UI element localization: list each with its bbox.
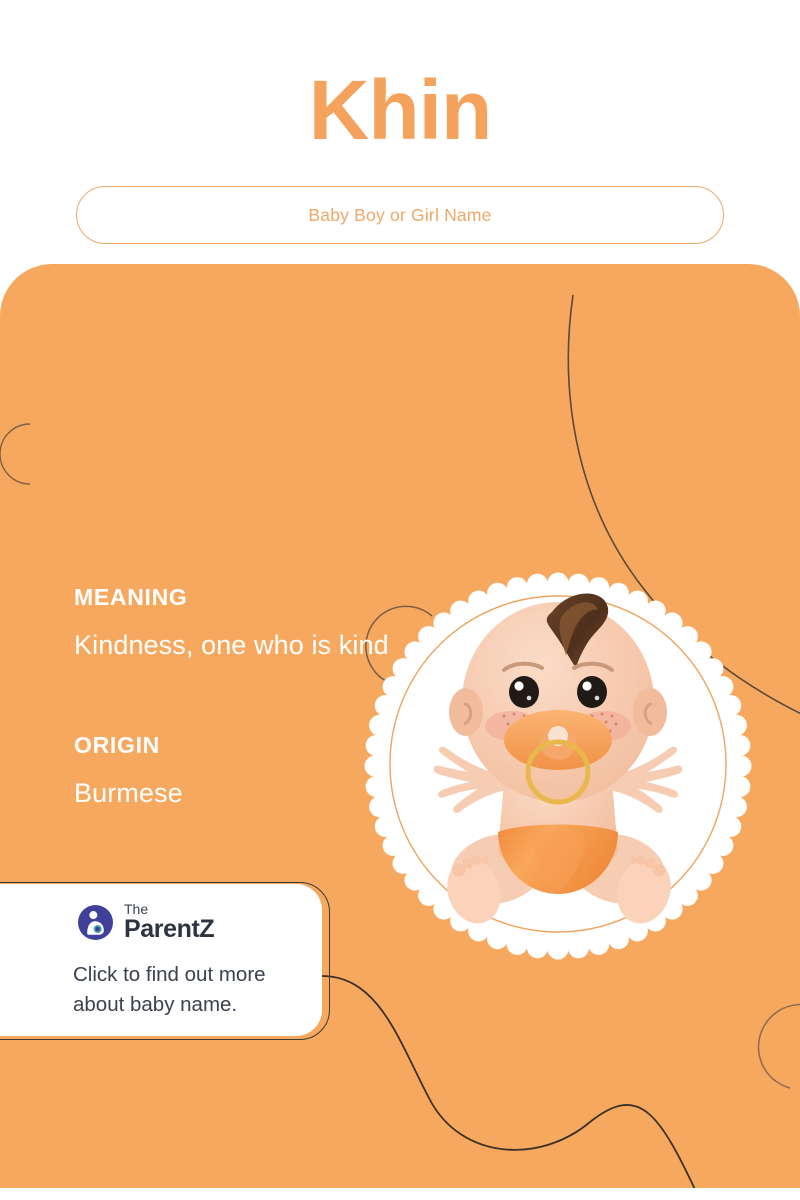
- promo-cta-line-1: Click to find out more: [73, 960, 313, 990]
- brand-prefix: The: [124, 902, 214, 916]
- brand-name: ParentZ: [124, 917, 214, 942]
- bottom-edge: [0, 1188, 800, 1200]
- meaning-value: Kindness, one who is kind: [74, 630, 389, 661]
- promo-cta-text: Click to find out more about baby name.: [73, 960, 313, 1020]
- brand-logo: The ParentZ: [78, 902, 214, 942]
- origin-label: ORIGIN: [74, 732, 160, 759]
- search-placeholder: Baby Boy or Girl Name: [308, 205, 491, 226]
- meaning-label: MEANING: [74, 584, 188, 611]
- baby-name-card-page: Khin Baby Boy or Girl Name MEANING Kindn…: [0, 0, 800, 1200]
- origin-value: Burmese: [74, 778, 183, 809]
- brand-wordmark: The ParentZ: [124, 902, 214, 942]
- promo-card[interactable]: The ParentZ Click to find out more about…: [0, 884, 322, 1036]
- page-title: Khin: [0, 68, 800, 152]
- baby-illustration: [356, 564, 760, 968]
- promo-cta-line-2: about baby name.: [73, 990, 313, 1020]
- search-input[interactable]: Baby Boy or Girl Name: [76, 186, 724, 244]
- mother-and-baby-icon: [78, 905, 113, 940]
